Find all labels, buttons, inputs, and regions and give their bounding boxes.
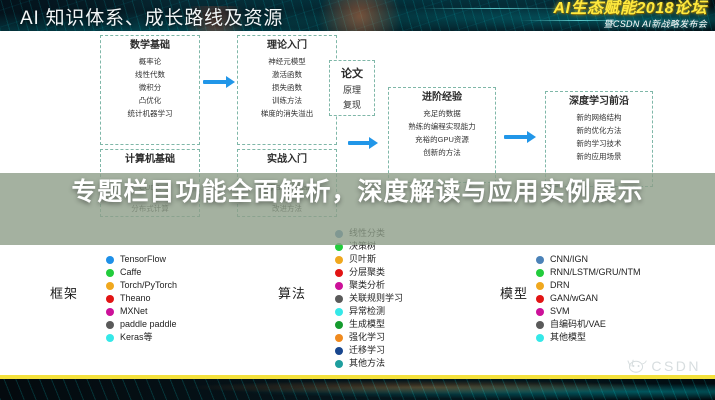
legend-item: GAN/wGAN (536, 292, 641, 305)
legend-dot-icon (335, 347, 343, 355)
csdn-watermark-text: CSDN (651, 358, 701, 374)
event-logo: AI生态赋能2018论坛 暨CSDN AI新战略发布会 (553, 1, 707, 29)
legend-item-label: GAN/wGAN (550, 292, 598, 305)
legend-list-models: CNN/IGNRNN/LSTM/GRU/NTMDRNGAN/wGANSVM自编码… (536, 253, 641, 344)
box-item: 充足的数据 (389, 107, 495, 120)
legend-dot-icon (335, 308, 343, 316)
legend-dot-icon (536, 308, 544, 316)
footer-circuit-pattern (0, 379, 715, 400)
legend-item-label: Caffe (120, 266, 141, 279)
box-item: 神经元模型 (238, 55, 336, 68)
legend-list-frameworks: TensorFlowCaffeTorch/PyTorchTheanoMXNetp… (106, 253, 177, 344)
box-item: 统计机器学习 (101, 107, 199, 120)
legend-item: 自编码机/VAE (536, 318, 641, 331)
legend-item-label: Theano (120, 292, 151, 305)
legend-item: 分层聚类 (335, 266, 403, 279)
legend-item-label: RNN/LSTM/GRU/NTM (550, 266, 641, 279)
box-item: 微积分 (101, 81, 199, 94)
event-logo-sub: 暨CSDN AI新战略发布会 (553, 20, 707, 29)
legend-dot-icon (536, 269, 544, 277)
box-title: 计算机基础 (101, 153, 199, 167)
legend-dot-icon (106, 256, 114, 264)
box-item: 新的优化方法 (546, 124, 652, 137)
box-item: 线性代数 (101, 68, 199, 81)
legend-item: Theano (106, 292, 177, 305)
legend-item: TensorFlow (106, 253, 177, 266)
legend-item: MXNet (106, 305, 177, 318)
legend-item: 迁移学习 (335, 344, 403, 357)
legend-dot-icon (106, 295, 114, 303)
box-title: 数学基础 (101, 39, 199, 53)
legend-item-label: TensorFlow (120, 253, 166, 266)
box-item: 新的网络结构 (546, 111, 652, 124)
legend-item: Torch/PyTorch (106, 279, 177, 292)
box-item: 激活函数 (238, 68, 336, 81)
legend-item-label: 异常检测 (349, 305, 385, 318)
legend-item: CNN/IGN (536, 253, 641, 266)
legend-dot-icon (106, 321, 114, 329)
legend-item-label: DRN (550, 279, 570, 292)
box-title: 理论入门 (238, 39, 336, 53)
box-item: 凸优化 (101, 94, 199, 107)
legend-dot-icon (536, 321, 544, 329)
box-title: 实战入门 (238, 153, 336, 167)
header-banner: AI 知识体系、成长路线及资源 AI生态赋能2018论坛 暨CSDN AI新战略… (0, 0, 715, 31)
legend-dot-icon (106, 334, 114, 342)
box-item: 概率论 (101, 55, 199, 68)
legend-item-label: paddle paddle (120, 318, 177, 331)
legend-item: 异常检测 (335, 305, 403, 318)
legend-dot-icon (335, 269, 343, 277)
legend-item-label: SVM (550, 305, 570, 318)
box-title: 论文 (330, 67, 374, 81)
screenshot-root: AI 知识体系、成长路线及资源 AI生态赋能2018论坛 暨CSDN AI新战略… (0, 0, 715, 400)
legend-item-label: 贝叶斯 (349, 253, 376, 266)
legend-dot-icon (536, 256, 544, 264)
diagram-box-theory: 理论入门 神经元模型 激活函数 损失函数 训练方法 梯度的消失溢出 (237, 35, 337, 145)
legend-dot-icon (536, 295, 544, 303)
legend-dot-icon (335, 256, 343, 264)
box-item: 训练方法 (238, 94, 336, 107)
legend-dot-icon (335, 321, 343, 329)
legend-item: Caffe (106, 266, 177, 279)
legend-dot-icon (106, 282, 114, 290)
legend-item: 贝叶斯 (335, 253, 403, 266)
diagram-box-paper: 论文 原理 复现 (329, 60, 375, 116)
legend-dot-icon (335, 360, 343, 368)
legend-dot-icon (106, 308, 114, 316)
box-item: 充裕的GPU资源 (389, 133, 495, 146)
legend-item-label: 关联规则学习 (349, 292, 403, 305)
legend-item-label: 迁移学习 (349, 344, 385, 357)
legend-item-label: 强化学习 (349, 331, 385, 344)
legend-item-label: Torch/PyTorch (120, 279, 177, 292)
legend-item-label: MXNet (120, 305, 148, 318)
box-item: 创新的方法 (389, 146, 495, 159)
diagram-box-math: 数学基础 概率论 线性代数 微积分 凸优化 统计机器学习 (100, 35, 200, 145)
legend-dot-icon (335, 334, 343, 342)
legend-item: SVM (536, 305, 641, 318)
legend-dot-icon (536, 282, 544, 290)
banner-light-streak (420, 8, 570, 9)
box-item: 熟练的编程实现能力 (389, 120, 495, 133)
box-item: 梯度的消失溢出 (238, 107, 336, 120)
legend-item: 聚类分析 (335, 279, 403, 292)
legend-item: Keras等 (106, 331, 177, 344)
legend-dot-icon (335, 282, 343, 290)
legend-label-models: 模型 (500, 283, 528, 302)
legend-dot-icon (106, 269, 114, 277)
legend-item: DRN (536, 279, 641, 292)
legend-item-label: Keras等 (120, 331, 153, 344)
event-logo-main: AI生态赋能2018论坛 (553, 1, 707, 17)
csdn-cat-icon (625, 358, 647, 374)
footer-strip (0, 379, 715, 400)
overlay-band (0, 173, 715, 245)
legend-list-algorithms: 线性分类决策树贝叶斯分层聚类聚类分析关联规则学习异常检测生成模型强化学习迁移学习… (335, 227, 403, 370)
legend-label-frameworks: 框架 (50, 283, 78, 302)
box-item: 复现 (330, 98, 374, 113)
legend-item-label: CNN/IGN (550, 253, 588, 266)
box-title: 进阶经验 (389, 91, 495, 105)
legend-dot-icon (536, 334, 544, 342)
legend-item-label: 生成模型 (349, 318, 385, 331)
legend-item-label: 自编码机/VAE (550, 318, 606, 331)
legend-item: 其他模型 (536, 331, 641, 344)
csdn-watermark: CSDN (625, 358, 701, 374)
page-title: AI 知识体系、成长路线及资源 (20, 3, 283, 30)
legend-item: 强化学习 (335, 331, 403, 344)
box-item: 原理 (330, 83, 374, 98)
legend-item-label: 分层聚类 (349, 266, 385, 279)
legend-item-label: 其他方法 (349, 357, 385, 370)
legend-item-label: 聚类分析 (349, 279, 385, 292)
box-title: 深度学习前沿 (546, 95, 652, 109)
legend-item: RNN/LSTM/GRU/NTM (536, 266, 641, 279)
box-item: 新的应用场景 (546, 150, 652, 163)
box-item: 新的学习技术 (546, 137, 652, 150)
legend-item-label: 其他模型 (550, 331, 586, 344)
legend-item: 关联规则学习 (335, 292, 403, 305)
diagram-box-advanced: 进阶经验 充足的数据 熟练的编程实现能力 充裕的GPU资源 创新的方法 (388, 87, 496, 183)
legend-label-algorithms: 算法 (278, 283, 306, 302)
legend-item: 其他方法 (335, 357, 403, 370)
box-item: 损失函数 (238, 81, 336, 94)
legend-dot-icon (335, 295, 343, 303)
legend-item: paddle paddle (106, 318, 177, 331)
legend-item: 生成模型 (335, 318, 403, 331)
banner-glow-accent (300, 0, 420, 31)
